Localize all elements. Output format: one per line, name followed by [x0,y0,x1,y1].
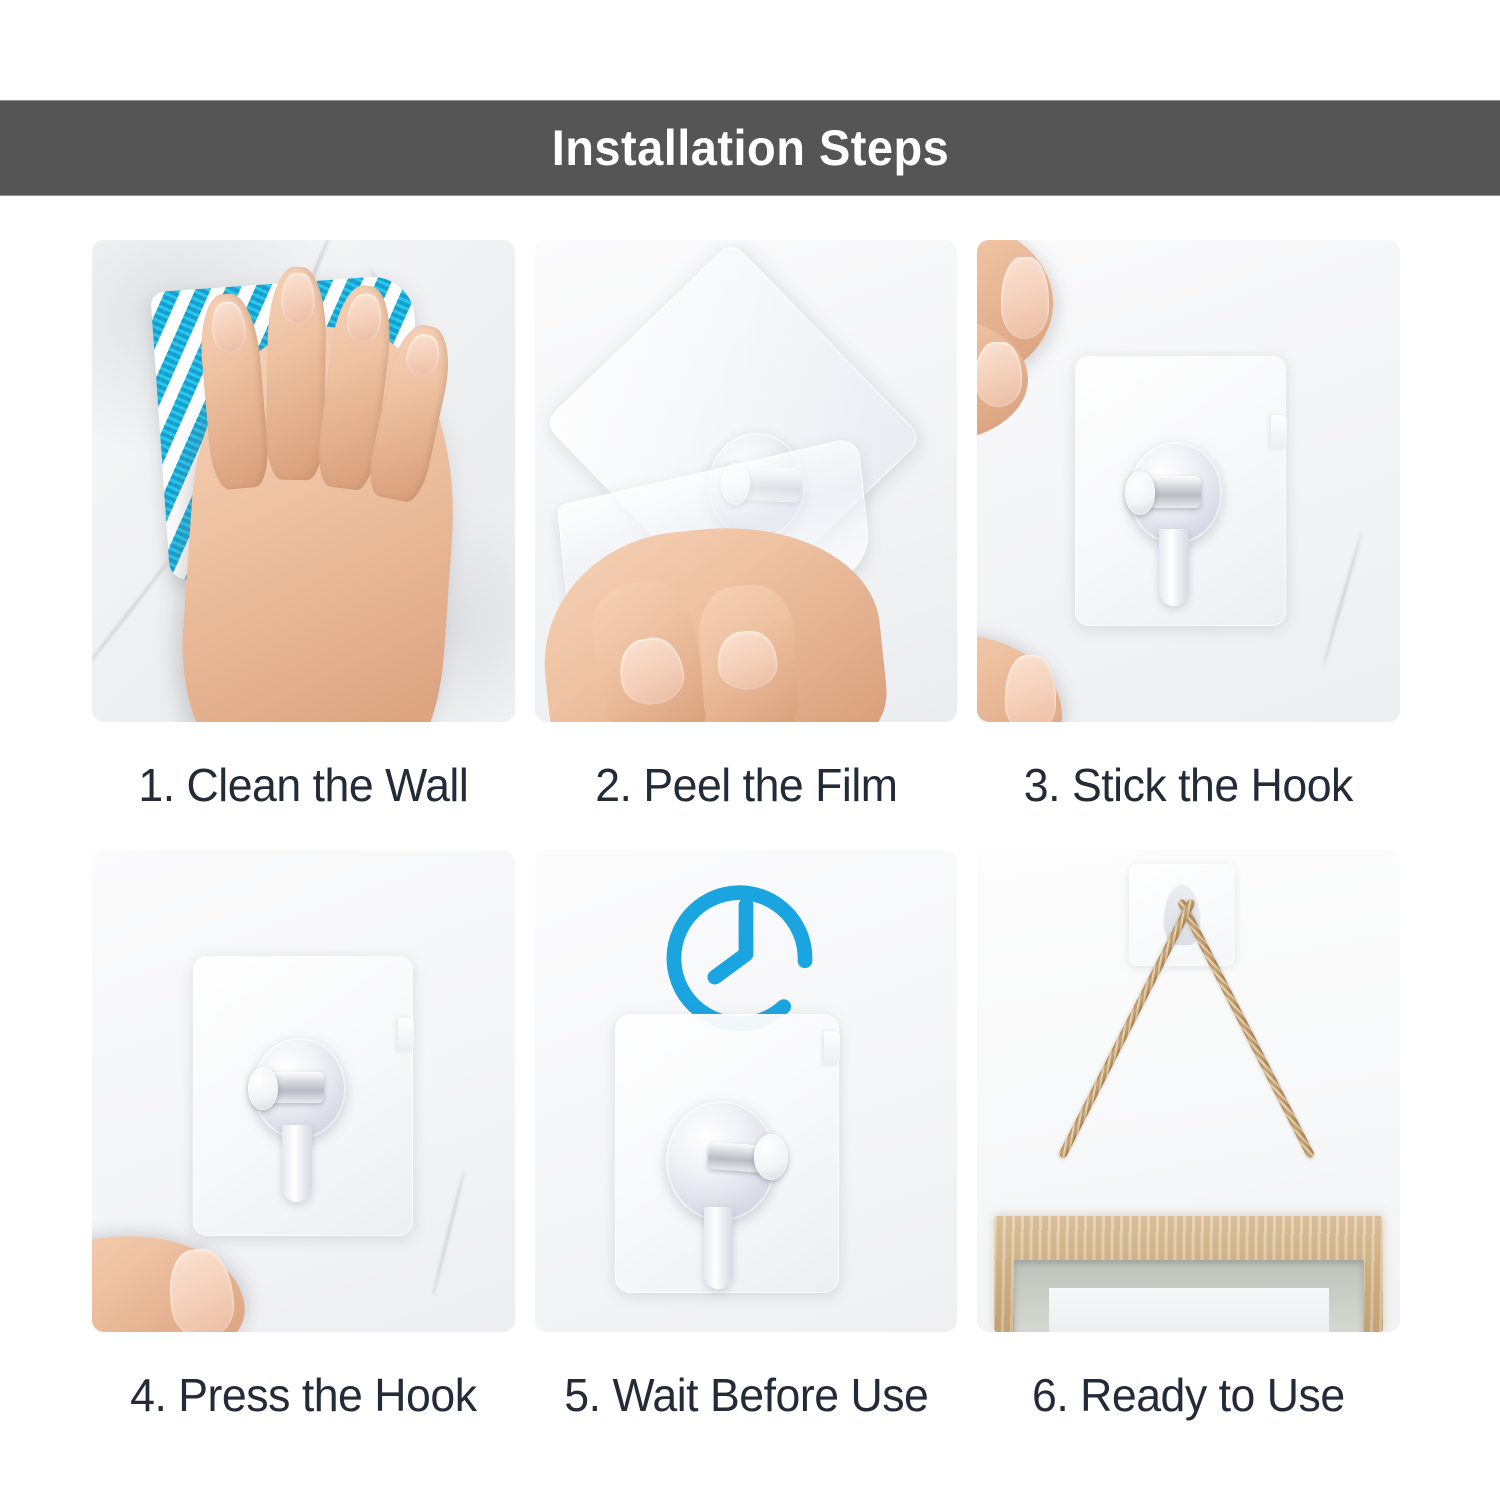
step-1-caption: 1. Clean the Wall [98,722,508,850]
thumbnail [164,1245,238,1332]
step-3-caption: 3. Stick the Hook [984,722,1394,850]
step-1-photo [92,240,515,722]
step-card-3: 3. Stick the Hook [977,240,1400,850]
hook-stem [1159,529,1189,606]
hook-stem [704,1207,734,1289]
thumb-icon [92,1221,252,1332]
rope-icon [1057,898,1195,1159]
plate-notch [1271,415,1287,449]
middle-finger [265,266,326,480]
clock-icon [653,869,839,1033]
step-2-caption: 2. Peel the Film [541,722,951,850]
hook-stem [282,1125,312,1202]
step-5-photo [535,850,958,1332]
thumb [584,574,715,722]
picture-frame-icon [994,1216,1383,1332]
step-card-4: 4. Press the Hook [92,850,515,1460]
hook-pin-cap [1125,471,1155,514]
marble-vein [431,1170,465,1297]
step-6-caption: 6. Ready to Use [984,1332,1394,1460]
rope-icon [1177,898,1315,1159]
rope-texture [1057,898,1195,1159]
fingernail [280,273,314,325]
hand-icon [174,318,466,722]
step-5-caption: 5. Wait Before Use [541,1332,951,1460]
fingernail [345,291,384,344]
index-finger [695,583,800,722]
step-card-5: 5. Wait Before Use [535,850,958,1460]
step-card-1: 1. Clean the Wall [92,240,515,850]
fingernail [210,300,248,353]
installation-steps-grid: 1. Clean the Wall 2. Peel the Film [92,240,1400,1460]
hook-pin-cap [248,1067,278,1110]
thumb [977,635,1062,722]
thumbnail [615,633,689,710]
step-card-6: 6. Ready to Use [977,850,1400,1460]
plate-notch [398,1018,414,1052]
plate-notch [824,1031,840,1065]
fingernail [1001,257,1049,339]
fingernail [716,630,779,692]
step-3-photo [977,240,1400,722]
fingernail [977,342,1021,407]
step-4-photo [92,850,515,1332]
frame-mat [1049,1288,1329,1332]
step-card-2: 2. Peel the Film [535,240,958,850]
rope-texture [1177,898,1315,1159]
step-4-caption: 4. Press the Hook [98,1332,508,1460]
header-bar: Installation Steps [0,100,1500,196]
step-6-photo [977,850,1400,1332]
step-2-photo [535,240,958,722]
fingernail [403,331,443,378]
page-title: Installation Steps [551,119,949,177]
thumbnail [1005,655,1056,722]
marble-vein [1322,531,1363,666]
